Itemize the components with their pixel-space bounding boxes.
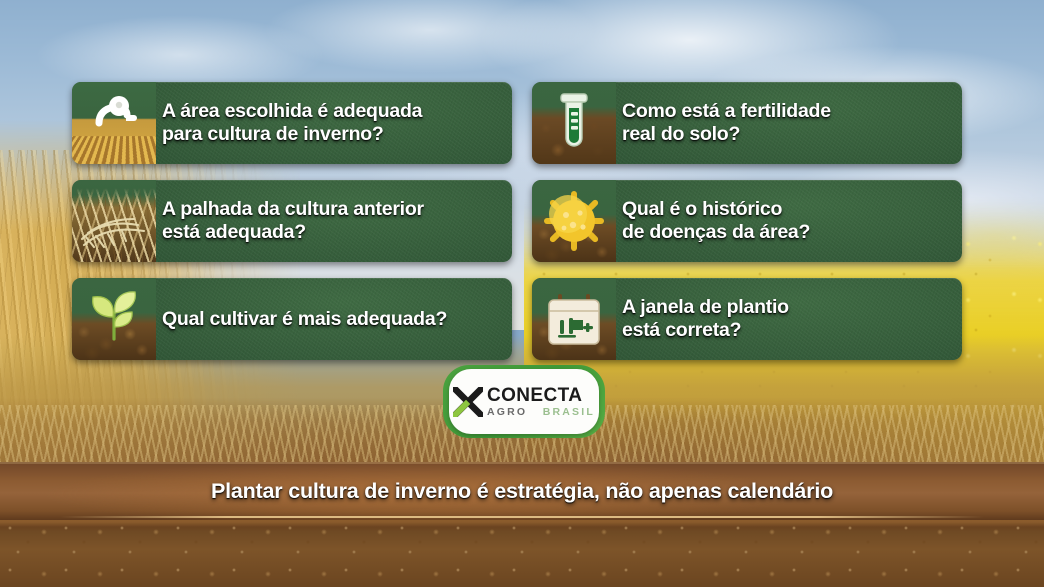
card-thumbnail-soil (532, 82, 616, 164)
plowed-field-pin-icon (72, 82, 156, 164)
card-question-text: A janela de plantio está correta? (616, 296, 801, 342)
seedling-icon (72, 278, 156, 360)
question-card-cultivar-adequada[interactable]: Qual cultivar é mais adequada? (72, 278, 512, 360)
card-question-text: A palhada da cultura anterior está adequ… (156, 198, 436, 244)
card-thumbnail-straw (72, 180, 156, 262)
banner-headline: Plantar cultura de inverno é estratégia,… (0, 462, 1044, 520)
question-card-fertilidade-solo[interactable]: Como está a fertilidade real do solo? (532, 82, 962, 164)
logo-tagline-brasil: BRASIL (543, 406, 595, 418)
straw-residue-icon (72, 180, 156, 262)
card-thumbnail-seedling (72, 278, 156, 360)
card-thumbnail-plowed-field (72, 82, 156, 164)
x-mark-icon (453, 387, 483, 417)
logo-name: CONECTA (487, 386, 595, 405)
question-card-palhada-anterior[interactable]: A palhada da cultura anterior está adequ… (72, 180, 512, 262)
question-card-area-adequada[interactable]: A área escolhida é adequada para cultura… (72, 82, 512, 164)
card-question-text: Como está a fertilidade real do solo? (616, 100, 843, 146)
calendar-plant-icon (532, 278, 616, 360)
card-question-text: Qual cultivar é mais adequada? (156, 308, 459, 331)
card-thumbnail-virus-soil (532, 180, 616, 262)
test-tube-icon (532, 82, 616, 164)
logo-white-card: CONECTA AGRO BRASIL (449, 369, 599, 434)
question-card-janela-plantio[interactable]: A janela de plantio está correta? (532, 278, 962, 360)
conecta-agro-brasil-logo[interactable]: CONECTA AGRO BRASIL (449, 369, 599, 434)
logo-tagline: AGRO BRASIL (487, 407, 595, 418)
logo-tagline-agro: AGRO (487, 406, 527, 418)
card-thumbnail-calendar (532, 278, 616, 360)
bottom-banner: Plantar cultura de inverno é estratégia,… (0, 462, 1044, 587)
banner-soil-texture (0, 520, 1044, 587)
card-question-text: Qual é o histórico de doenças da área? (616, 198, 822, 244)
question-card-historico-doencas[interactable]: Qual é o histórico de doenças da área? (532, 180, 962, 262)
infographic-canvas: A área escolhida é adequada para cultura… (0, 0, 1044, 587)
card-question-text: A área escolhida é adequada para cultura… (156, 100, 434, 146)
virus-icon (532, 180, 616, 262)
